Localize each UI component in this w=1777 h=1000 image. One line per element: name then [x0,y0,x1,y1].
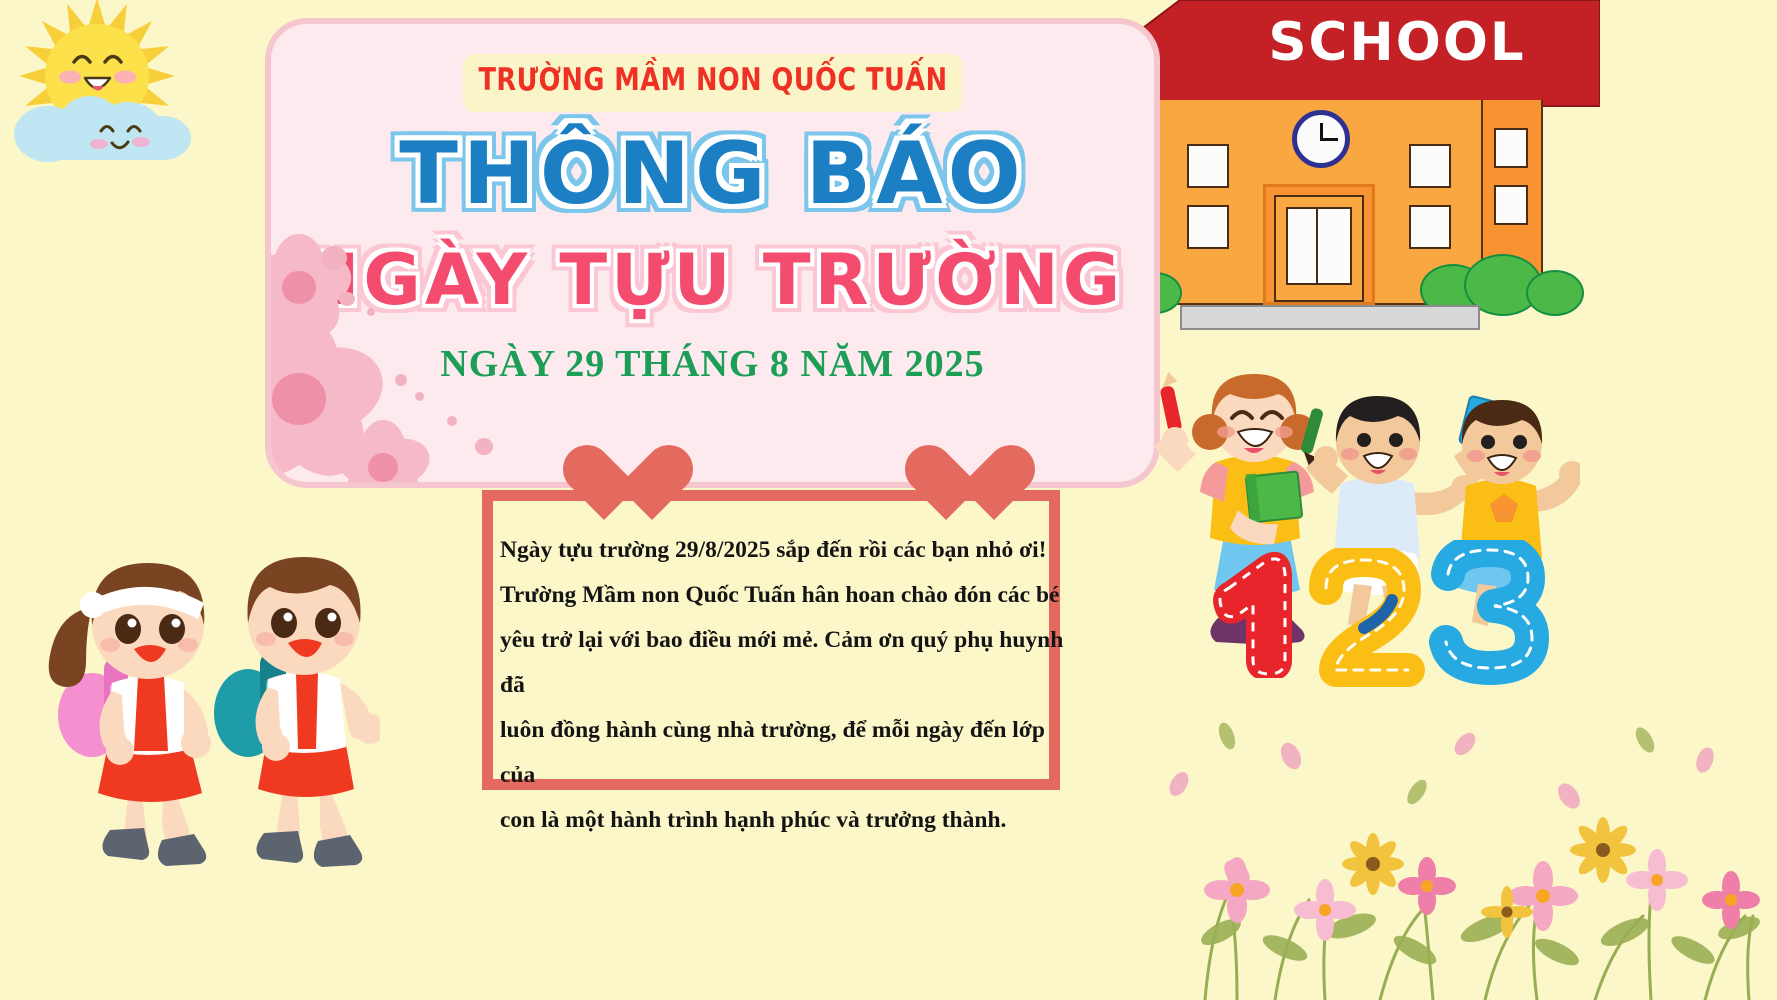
school-window [1187,144,1229,188]
clock-icon [1292,110,1350,168]
blossom-dot [321,246,347,270]
blossom-dot [339,292,355,306]
cloud-icon [8,78,203,168]
school-window [1187,205,1229,249]
cherry-blossom-decoration [333,420,433,488]
blossom-dot [367,308,375,316]
poster-canvas: SCHOOL [0,0,1777,1000]
message-text: Ngày tựu trường 29/8/2025 sắp đến rồi cá… [500,528,1070,843]
blossom-dot [415,392,424,401]
event-date: NGÀY 29 THÁNG 8 NĂM 2025 [303,342,1123,386]
number-three [1420,540,1570,690]
blossom-dot [475,438,493,455]
announcement-banner: TRƯỜNG MẦM NON QUỐC TUẤN THÔNG BÁO NGÀY … [265,18,1160,488]
school-window [1409,144,1451,188]
flowers-illustration [1165,700,1777,1000]
page-subtitle: NGÀY TỰU TRƯỜNG [273,239,1153,321]
school-door [1263,184,1375,305]
school-sign-label: SCHOOL [1252,12,1542,73]
blossom-dot [395,374,407,386]
page-title: THÔNG BÁO [273,124,1153,224]
blossom-dot [447,416,457,426]
school-name-text: TRƯỜNG MẦM NON QUỐC TUẤN [427,62,997,98]
school-steps [1180,305,1480,330]
children-walking-illustration [30,525,380,875]
bush-icon [1526,270,1584,316]
school-window [1494,185,1528,225]
school-window [1409,205,1451,249]
school-window [1494,128,1528,168]
